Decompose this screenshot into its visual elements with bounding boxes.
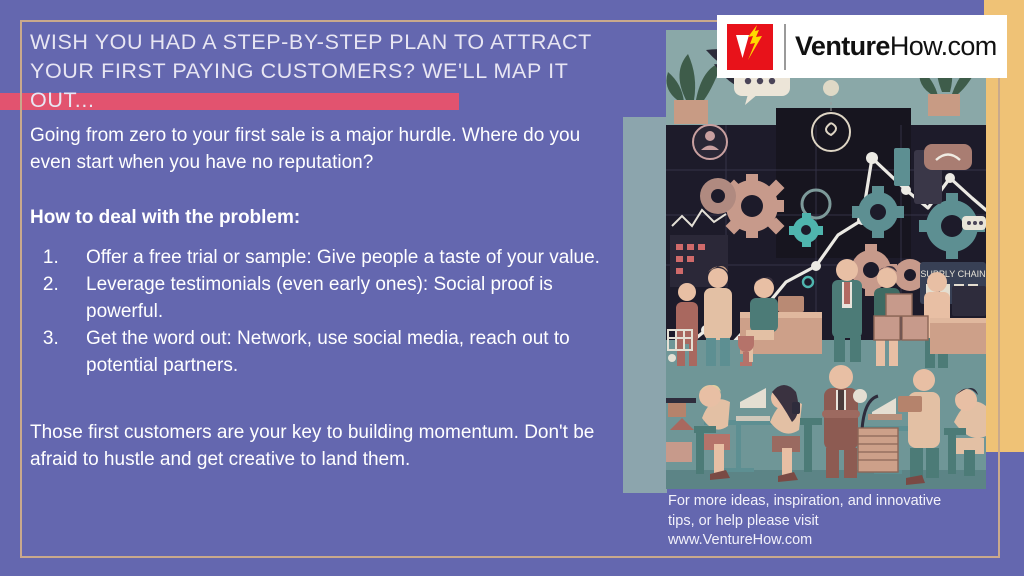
footer-website-link[interactable]: www.VentureHow.com [668,531,990,551]
logo-wordmark: VentureHow.com [795,31,997,62]
logo-divider [784,24,786,70]
business-illustration: SUPPLY CHAIN [666,30,986,489]
teal-accent-band [623,117,667,493]
closing-paragraph: Those first customers are your key to bu… [30,419,622,473]
logo-word-howcom: How.com [890,31,997,61]
list-item: Offer a free trial or sample: Give peopl… [64,244,622,271]
subheading: How to deal with the problem: [30,204,622,231]
list-item: Get the word out: Network, use social me… [64,325,622,379]
slide-canvas: Wish you had a step-by-step plan to attr… [0,0,1024,576]
footer-note: For more ideas, inspiration, and innovat… [668,492,990,551]
illustration-artwork: SUPPLY CHAIN [666,30,986,489]
steps-list: Offer a free trial or sample: Give peopl… [30,244,622,379]
footer-line-2: tips, or help please visit [668,512,990,532]
list-item: Leverage testimonials (even early ones):… [64,271,622,325]
footer-line-1: For more ideas, inspiration, and innovat… [668,492,990,512]
logo-word-venture: Venture [795,31,890,61]
body-content: Going from zero to your first sale is a … [30,122,622,473]
intro-paragraph: Going from zero to your first sale is a … [30,122,622,176]
venturehow-logo[interactable]: VentureHow.com [717,15,1007,78]
venture-v-arrow-icon [727,24,773,70]
page-title: Wish you had a step-by-step plan to attr… [30,28,630,115]
